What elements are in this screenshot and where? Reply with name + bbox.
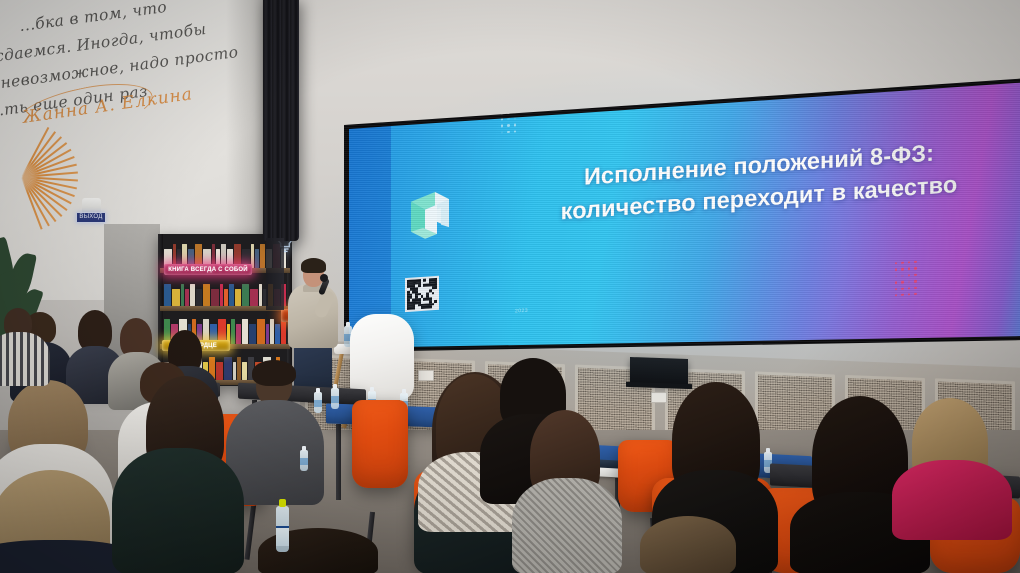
- book: [250, 289, 258, 306]
- slide-dot: [901, 287, 903, 290]
- book: [231, 319, 235, 344]
- book: [236, 324, 241, 344]
- slide-dot: [901, 281, 903, 284]
- book: [181, 284, 184, 306]
- book: [235, 289, 241, 306]
- slide-dot: [914, 286, 916, 289]
- book: [172, 289, 180, 306]
- exit-sign-label: ВЫХОД: [77, 213, 105, 222]
- slide-dot: [901, 262, 903, 265]
- neon-sign-1: КНИГА ВСЕГДА С СОБОЙ: [164, 264, 252, 275]
- slide-dot: [895, 294, 897, 297]
- slide-dot: [914, 267, 916, 270]
- slide-dot: [895, 288, 897, 291]
- book: [196, 289, 202, 306]
- slide-dot: [908, 261, 910, 264]
- bottle-label: [314, 400, 322, 407]
- exit-sign: ВЫХОД: [76, 212, 106, 223]
- slide-dot: [501, 118, 503, 121]
- book: [233, 362, 236, 380]
- book: [270, 319, 274, 344]
- orange-chair[interactable]: [352, 400, 408, 488]
- exit-lamp-housing: [82, 198, 101, 212]
- sports-drink-bottle[interactable]: [276, 506, 289, 552]
- book: [164, 284, 171, 306]
- slide-year: 2023: [515, 308, 528, 315]
- slide-dot: [908, 274, 910, 277]
- decorative-column: [263, 0, 299, 241]
- book: [229, 284, 234, 306]
- slide-dot: [914, 293, 916, 296]
- book: [242, 319, 248, 344]
- bottle-label: [331, 396, 339, 403]
- wall-speaker: [630, 357, 688, 385]
- slide-dot: [507, 124, 509, 127]
- isometric-cube-logo: [397, 181, 453, 243]
- attendee-hair: [252, 360, 296, 386]
- book: [281, 319, 286, 344]
- slide-dot: [507, 130, 509, 133]
- book: [259, 284, 262, 306]
- book: [260, 244, 265, 268]
- slide-title: Исполнение положений 8-ФЗ: количество пе…: [509, 131, 1009, 232]
- attendee-hair: [640, 516, 736, 573]
- attendee-torso: [892, 460, 1012, 540]
- book: [216, 362, 223, 380]
- slide-dot: [908, 287, 910, 290]
- slide-dot: [908, 268, 910, 271]
- attendee-torso: [112, 448, 244, 573]
- slide-dot: [914, 274, 916, 277]
- water-bottle[interactable]: [300, 450, 308, 471]
- decorative-column-base: [266, 238, 284, 310]
- slide-dot: [895, 269, 897, 272]
- slide-dot: [895, 281, 897, 284]
- wall-outlet[interactable]: [418, 370, 434, 381]
- bottle-label: [276, 526, 289, 546]
- attendee-torso: [0, 332, 50, 386]
- slide-dot: [514, 130, 516, 133]
- wall-outlet[interactable]: [651, 392, 667, 403]
- bottle-label: [300, 458, 308, 465]
- book: [211, 289, 219, 306]
- slide-dot: [914, 280, 916, 283]
- book: [242, 284, 249, 306]
- book: [224, 289, 228, 306]
- water-bottle[interactable]: [331, 388, 339, 409]
- slide-dot: [895, 262, 897, 265]
- book: [224, 357, 232, 380]
- table-leg: [336, 424, 341, 500]
- book: [255, 249, 259, 268]
- attendee-torso: [512, 478, 622, 573]
- slide-dot: [514, 124, 516, 127]
- slide-dot: [908, 280, 910, 283]
- book: [266, 324, 269, 344]
- slide-dot: [501, 125, 503, 128]
- slide-dot: [901, 274, 903, 277]
- microphone-head: [320, 274, 328, 282]
- slide-dot: [914, 261, 916, 264]
- presenter-hair: [301, 258, 326, 273]
- slide-dot-pattern-bottom-right: [895, 261, 917, 297]
- slide-dot: [507, 118, 509, 121]
- sunburst-decoration: [0, 118, 84, 238]
- book: [249, 324, 256, 344]
- qr-cell: [434, 305, 437, 308]
- book: [185, 289, 189, 306]
- white-eames-chair[interactable]: [350, 314, 414, 400]
- slide-dot: [501, 131, 503, 134]
- book: [275, 324, 280, 344]
- conference-room-photo: ...бка в том, что сдаемся. Иногда, чтобы…: [0, 0, 1020, 573]
- book: [242, 362, 247, 380]
- slide-dot: [895, 275, 897, 278]
- book: [190, 284, 195, 306]
- qr-code-grid: [407, 278, 437, 310]
- book: [257, 319, 265, 344]
- slide-dot: [514, 117, 516, 120]
- slide-dot: [901, 294, 903, 297]
- water-bottle[interactable]: [314, 392, 322, 413]
- qr-code[interactable]: [405, 276, 439, 312]
- book: [220, 284, 223, 306]
- slide-dot: [908, 293, 910, 296]
- slide-dot: [901, 268, 903, 271]
- book: [203, 284, 210, 306]
- book: [237, 357, 241, 380]
